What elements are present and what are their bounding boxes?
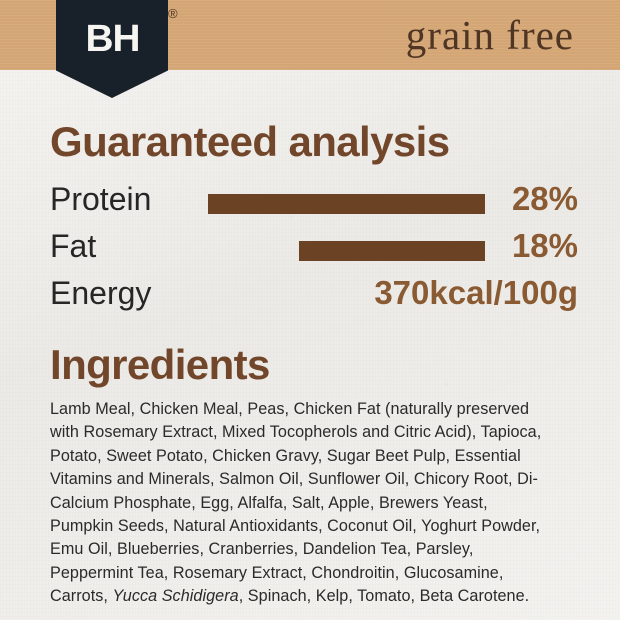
analysis-bar-track-protein [208,194,485,214]
analysis-bar-track-fat [208,241,485,261]
ingredients-text-part-2: , Spinach, Kelp, Tomato, Beta Carotene. [239,587,530,605]
analysis-label-protein: Protein [50,180,151,218]
brand-logo-text: BH [85,18,139,61]
analysis-value-energy: 370kcal/100g [374,273,578,313]
registered-trademark-icon: ® [168,6,178,21]
analysis-row-energy: Energy 370kcal/100g [0,274,620,321]
brand-logo-shield: BH [56,0,168,98]
label-panel: BH ® grain free Guaranteed analysis Prot… [0,0,620,620]
guaranteed-analysis-heading: Guaranteed analysis [50,118,449,166]
ingredients-list: Lamb Meal, Chicken Meal, Peas, Chicken F… [50,398,550,609]
ingredients-text-part-1: Lamb Meal, Chicken Meal, Peas, Chicken F… [50,400,541,605]
analysis-row-protein: Protein 28% [0,180,620,227]
analysis-value-fat: 18% [512,226,578,266]
ingredients-italic-term: Yucca Schidigera [113,587,239,605]
analysis-table: Protein 28% Fat 18% Energy 370kcal/100g [0,180,620,321]
analysis-bar-protein [208,194,485,214]
analysis-value-protein: 28% [512,179,578,219]
analysis-label-energy: Energy [50,274,151,312]
analysis-bar-fat [299,241,485,261]
analysis-row-fat: Fat 18% [0,227,620,274]
ingredients-heading: Ingredients [50,341,270,389]
grain-free-tagline: grain free [406,7,574,63]
analysis-label-fat: Fat [50,227,96,265]
